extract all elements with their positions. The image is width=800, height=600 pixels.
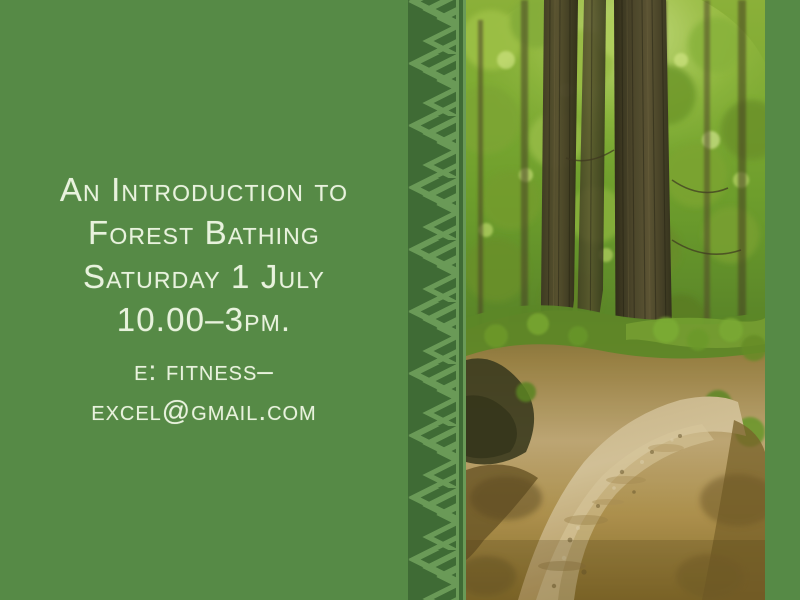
- title-line-2: Forest Bathing: [60, 212, 348, 255]
- contact-email-line-2: excel@gmail.com: [91, 391, 316, 431]
- forest-path-photo: [466, 0, 765, 600]
- poster-canvas: An Introduction to Forest Bathing Saturd…: [0, 0, 800, 600]
- forest-path-illustration: [466, 0, 765, 600]
- title-line-1: An Introduction to: [60, 169, 348, 212]
- event-date: Saturday 1 July: [83, 256, 325, 299]
- contact-block: e: fitness– excel@gmail.com: [91, 351, 316, 431]
- event-details-block: Saturday 1 July 10.00–3pm.: [83, 256, 325, 342]
- chevron-pattern-icon: [408, 0, 456, 600]
- text-panel: An Introduction to Forest Bathing Saturd…: [0, 0, 408, 600]
- event-time: 10.00–3pm.: [83, 299, 325, 342]
- chevron-border-band: [408, 0, 466, 600]
- contact-email-line-1: e: fitness–: [91, 351, 316, 391]
- title-block: An Introduction to Forest Bathing: [60, 169, 348, 255]
- right-green-margin: [765, 0, 800, 600]
